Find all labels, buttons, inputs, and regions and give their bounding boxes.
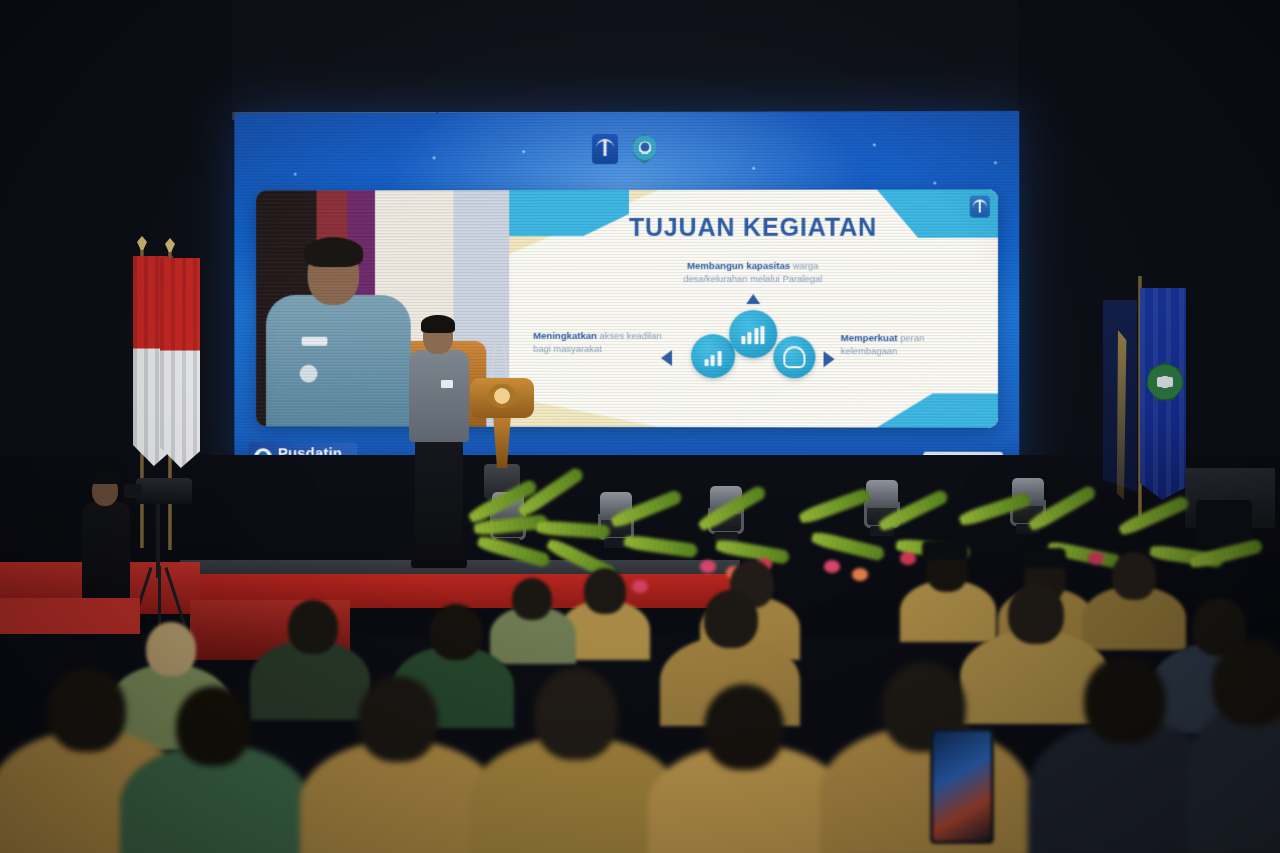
carved-podium bbox=[470, 378, 534, 498]
region-emblem-logo bbox=[631, 134, 657, 164]
slide-corner-blue-br bbox=[877, 393, 998, 427]
arrow-right-icon bbox=[823, 351, 834, 367]
led-header-logos bbox=[234, 133, 1019, 165]
goal-top-bold: Membangun kapasitas bbox=[687, 261, 790, 272]
goal-right: Memperkuat peran kelembagaan bbox=[841, 332, 982, 357]
kemenkum-logo bbox=[592, 134, 618, 164]
slide-content: TUJUAN KEGIATAN Membangun kapasitas warg… bbox=[509, 189, 998, 427]
goal-left: Meningkatkan akses keadilan bagi masyara… bbox=[533, 330, 673, 355]
presentation-slide: TUJUAN KEGIATAN Membangun kapasitas warg… bbox=[256, 189, 998, 427]
stage-speaker bbox=[405, 318, 475, 578]
bar-chart-icon bbox=[691, 334, 735, 378]
top-dark-drape bbox=[232, 0, 1018, 112]
speaker-cabinet bbox=[1196, 500, 1252, 546]
video-feed-speaker bbox=[264, 237, 413, 426]
phone-screen-content bbox=[933, 731, 991, 841]
goal-top: Membangun kapasitas warga desa/kelurahan… bbox=[665, 260, 841, 285]
led-video-wall: TUJUAN KEGIATAN Membangun kapasitas warg… bbox=[234, 111, 1019, 478]
slide-title: TUJUAN KEGIATAN bbox=[509, 214, 998, 244]
flag-indonesia-2 bbox=[160, 258, 200, 468]
hand-shield-icon bbox=[773, 336, 815, 378]
flower bbox=[900, 552, 916, 565]
chart-growth-icon bbox=[729, 310, 777, 358]
flower bbox=[1088, 552, 1104, 565]
arrow-left-icon bbox=[661, 350, 672, 366]
flower bbox=[700, 560, 716, 573]
screenshot-root: TUJUAN KEGIATAN Membangun kapasitas warg… bbox=[0, 0, 1280, 853]
stage-front-edge bbox=[0, 598, 140, 634]
smartphone-screen bbox=[930, 728, 994, 844]
flower bbox=[852, 568, 868, 581]
flower bbox=[632, 580, 648, 593]
goal-left-bold: Meningkatkan bbox=[533, 331, 597, 342]
flower bbox=[824, 560, 840, 573]
arrow-up-icon bbox=[746, 294, 760, 304]
goal-right-bold: Memperkuat bbox=[841, 333, 898, 344]
